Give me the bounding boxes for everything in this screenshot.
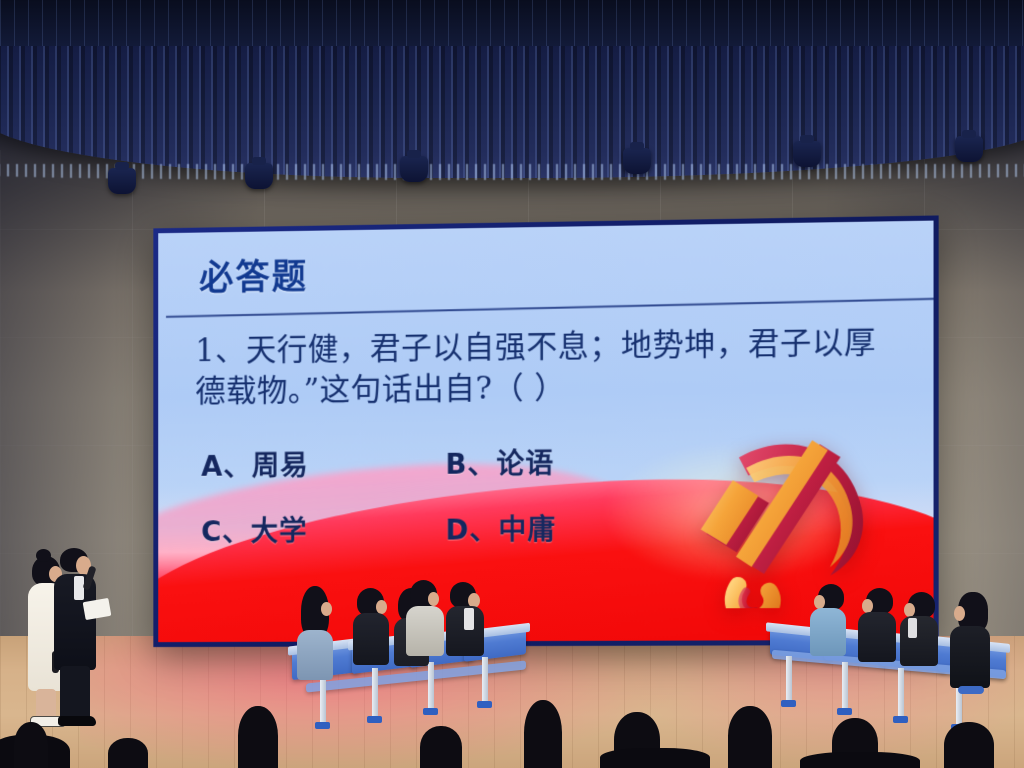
- audience-silhouette: [14, 722, 48, 768]
- option-a[interactable]: A、周易: [201, 443, 445, 485]
- torso: [950, 626, 990, 688]
- face: [904, 603, 915, 617]
- spotlight-icon: [955, 136, 983, 162]
- face: [862, 599, 873, 613]
- stool: [958, 686, 984, 694]
- party-emblem-icon: [686, 415, 899, 608]
- face: [814, 595, 825, 609]
- desk-foot: [781, 700, 796, 707]
- desk-foot: [315, 722, 330, 729]
- led-screen: 必答题 1、天行健，君子以自强不息；地势坤，君子以厚德载物。”这句话出自?（ ）…: [158, 221, 933, 643]
- option-b[interactable]: B、论语: [445, 441, 627, 483]
- face: [376, 600, 387, 614]
- desk-foot: [423, 708, 438, 715]
- contestant: [444, 582, 488, 668]
- desk-leg: [786, 656, 792, 702]
- contestant: [352, 588, 394, 674]
- desk-foot: [367, 716, 382, 723]
- audience-silhouette: [600, 748, 710, 768]
- spotlight-icon: [245, 163, 273, 189]
- torso: [297, 630, 333, 680]
- spotlight-icon: [623, 148, 651, 174]
- curtain-hem: [0, 164, 1024, 180]
- desk-foot: [893, 716, 908, 723]
- slide-title: 必答题: [199, 249, 308, 301]
- hair-bun: [36, 549, 51, 562]
- host-male: [52, 548, 108, 738]
- ceiling-slats: [0, 0, 1024, 46]
- spotlight-icon: [793, 141, 821, 167]
- option-d[interactable]: D、中庸: [445, 507, 627, 548]
- audience-silhouette: [238, 706, 278, 768]
- contestant: [856, 588, 900, 672]
- contestant: [295, 586, 339, 676]
- papers: [83, 598, 112, 620]
- ceiling-beam: [0, 0, 1024, 46]
- spotlight-icon: [108, 168, 136, 194]
- screenshot-root: 必答题 1、天行健，君子以自强不息；地势坤，君子以厚德载物。”这句话出自?（ ）…: [0, 0, 1024, 768]
- trousers: [60, 666, 90, 720]
- face: [428, 592, 439, 606]
- shirt: [908, 618, 917, 638]
- audience-silhouette: [420, 726, 462, 768]
- spotlight-icon: [400, 156, 428, 182]
- desk-leg: [372, 668, 378, 718]
- led-screen-bezel: 必答题 1、天行健，君子以自强不息；地势坤，君子以厚德载物。”这句话出自?（ ）…: [153, 215, 938, 647]
- face: [954, 606, 965, 621]
- shirt: [464, 608, 474, 630]
- audience-silhouette: [728, 706, 772, 768]
- audience-silhouette: [524, 700, 562, 768]
- torso: [353, 613, 389, 665]
- face: [321, 602, 332, 616]
- torso: [900, 616, 938, 666]
- torso: [406, 606, 444, 656]
- torso: [858, 612, 896, 662]
- contestant: [898, 592, 942, 676]
- shoes: [58, 716, 96, 726]
- desk-foot: [477, 701, 492, 708]
- audience-silhouette: [944, 722, 994, 768]
- audience-silhouette: [108, 738, 148, 768]
- audience-silhouette: [800, 752, 920, 768]
- contestant: [404, 580, 448, 666]
- torso: [810, 608, 846, 656]
- desk-leg: [842, 662, 848, 710]
- option-c[interactable]: C、大学: [201, 509, 445, 550]
- contestant: [808, 584, 850, 668]
- desk-foot: [837, 708, 852, 715]
- question-text: 1、天行健，君子以自强不息；地势坤，君子以厚德载物。”这句话出自?（ ）: [195, 322, 907, 412]
- slide-divider: [166, 298, 934, 318]
- answer-options: A、周易 B、论语 C、大学 D、中庸: [201, 441, 627, 550]
